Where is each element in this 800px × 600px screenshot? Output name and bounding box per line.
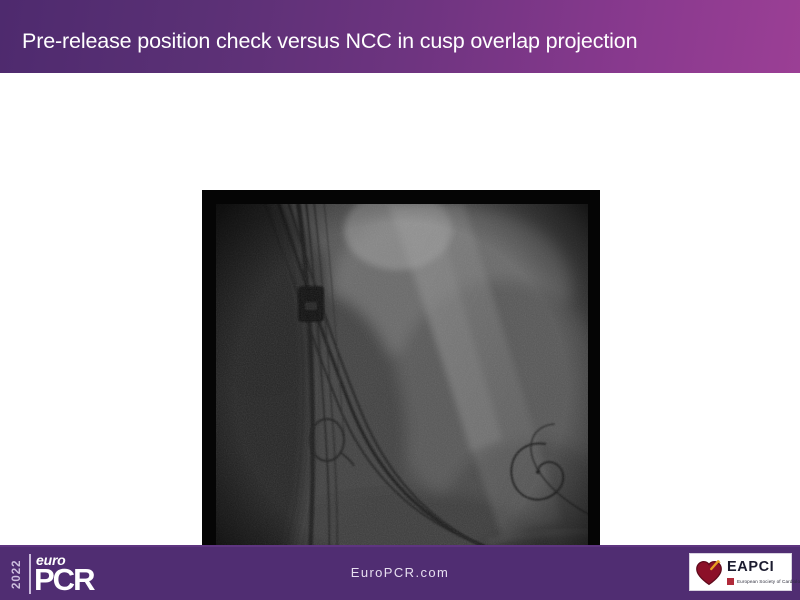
footer-accent-line	[0, 545, 800, 547]
footer-website-link[interactable]: EuroPCR.com	[0, 565, 800, 580]
eapci-name-label: EAPCI	[727, 560, 774, 575]
fluoroscopy-image	[202, 190, 600, 588]
eapci-partner-badge[interactable]: EAPCI European Society of Cardiology	[689, 553, 792, 591]
fluoroscopy-image-frame: Lossy	[202, 190, 600, 588]
eapci-subtitle-label: European Society of Cardiology	[737, 579, 800, 585]
slide-header-bar: Pre-release position check versus NCC in…	[0, 0, 800, 73]
heart-icon	[695, 559, 723, 587]
esc-mark-icon	[727, 578, 734, 585]
page-title: Pre-release position check versus NCC in…	[22, 29, 637, 54]
eapci-subtitle-row: European Society of Cardiology	[727, 578, 800, 585]
slide-footer-bar: 2022 euro PCR EuroPCR.com	[0, 545, 800, 600]
slide-content-area: Lossy	[0, 73, 800, 545]
